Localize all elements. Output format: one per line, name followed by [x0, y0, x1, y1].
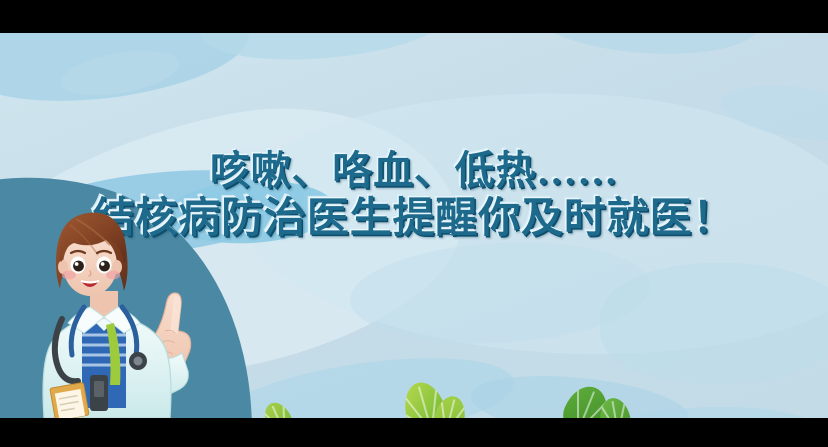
doctor-illustration [18, 203, 228, 418]
doctor-head [56, 213, 128, 296]
headline-line-1: 咳嗽、咯血、低热…… [0, 151, 828, 192]
handheld-device [90, 375, 108, 411]
poster-canvas: 咳嗽、咯血、低热…… 结核病防治医生提醒你及时就医！ [0, 33, 828, 418]
blush-left [62, 271, 76, 280]
video-frame: 咳嗽、咯血、低热…… 结核病防治医生提醒你及时就医！ [0, 0, 828, 447]
letterbox-bar-bottom [0, 418, 828, 447]
clipboard [50, 382, 89, 418]
letterbox-bar-top [0, 0, 828, 33]
blush-right [106, 271, 120, 280]
